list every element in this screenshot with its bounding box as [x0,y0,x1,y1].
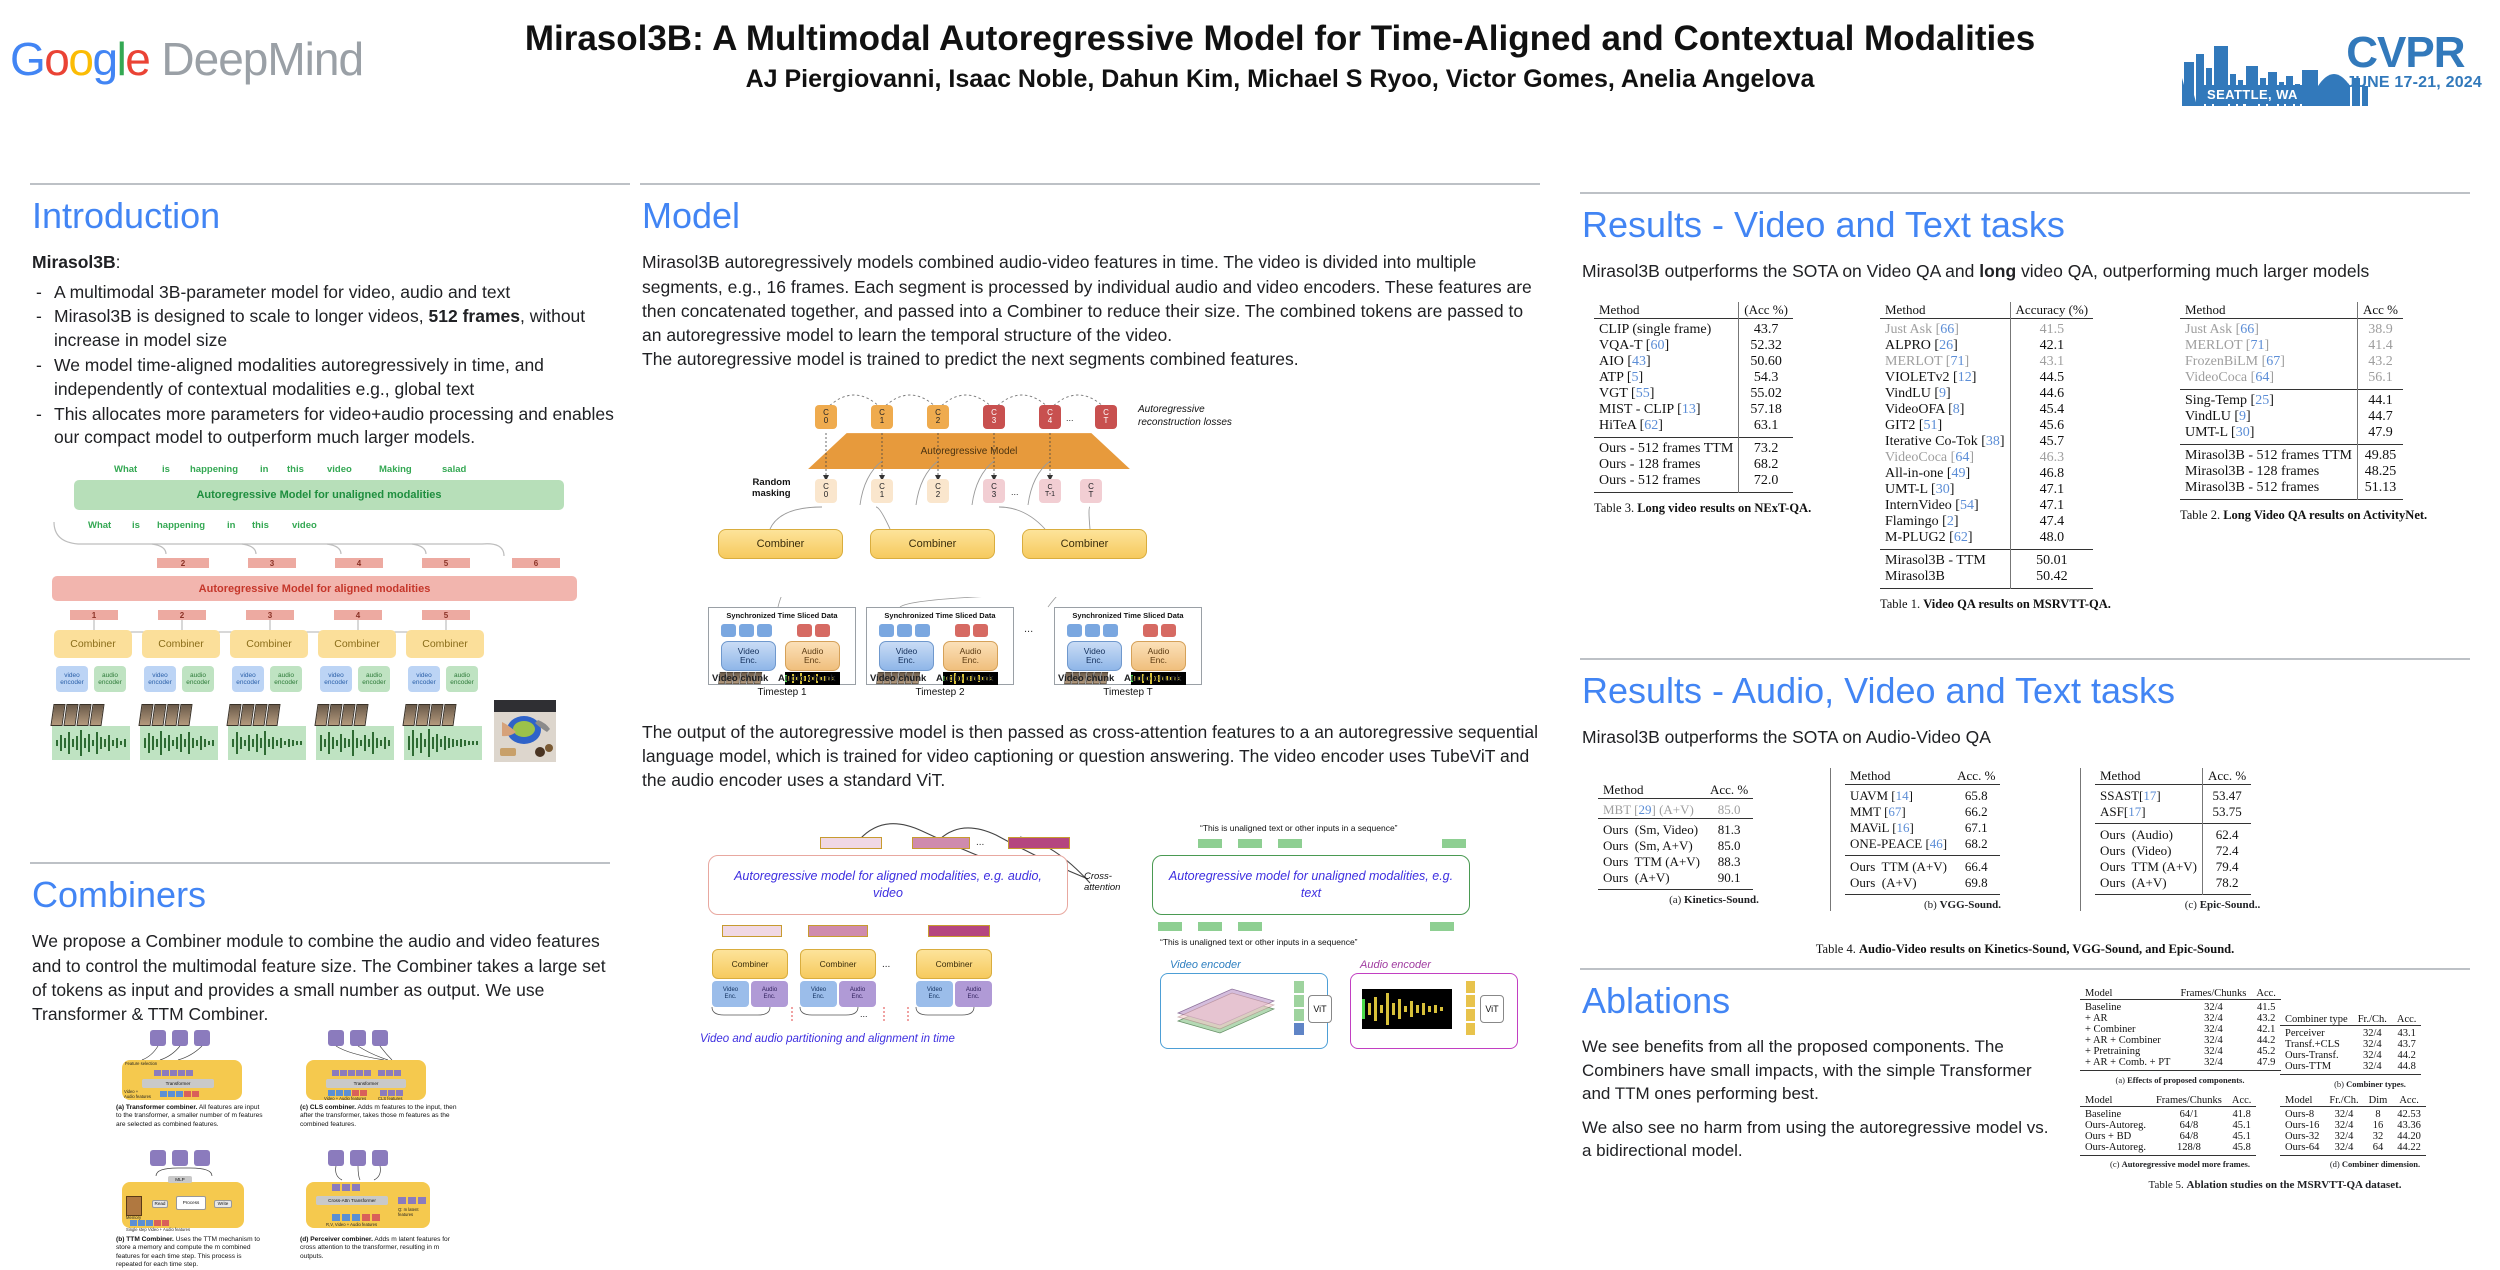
table-row: Ours (Audio)62.4 [2095,824,2251,844]
text-token [1238,922,1262,931]
table-row: ASF[17]53.75 [2095,804,2251,824]
column-header: Model [2280,1095,2324,1107]
table-row: Ours - 512 frames72.0 [1594,473,1793,493]
unaligned-quote-bottom: “This is unaligned text or other inputs … [1160,937,1358,947]
transformer-block: Transformer [326,1079,406,1088]
table-row: MERLOT [71]43.1 [1880,354,2093,370]
table-row: VGT [55]55.02 [1594,386,1793,402]
column-header: Method [1845,768,1952,785]
token [192,1091,199,1097]
table-row: Ours-1632/41643.36 [2280,1120,2426,1131]
token [176,1091,183,1097]
combiner-output-token [928,925,990,937]
results-video-text-subtitle: Mirasol3B outperforms the SOTA on Video … [1582,259,2470,283]
results-avt-title: Results - Audio, Video and Text tasks [1582,670,2470,711]
text-token [1158,922,1182,931]
table-row: All-in-one [49]46.8 [1880,466,2093,482]
combiner-arrows-d [310,1164,440,1182]
text-token [1442,839,1466,848]
token [138,1220,145,1226]
table-5d-caption: (d) Combiner dimension. [2280,1159,2470,1169]
token [418,1197,426,1204]
results-tables-row-1: Method(Acc %) CLIP (single frame)43.7 VQ… [1580,302,2470,612]
table-row: UMT-L [30]47.9 [2180,425,2403,445]
text-token [1198,922,1222,931]
column-header: (Acc %) [1739,302,1793,319]
cvpr-wordmark: CVPR [2346,32,2482,74]
table-row: Mirasol3B - TTM50.01 [1880,550,2093,570]
audio-waveform [316,726,394,760]
video-encoder-block: videoencoder [56,666,88,692]
combiner-block: Combiner [718,529,843,559]
column-header: Acc. % [1705,782,1753,799]
figure-token: video [327,464,352,475]
table-row: Ours (A+V)69.8 [1845,875,2000,895]
combiner-block: Combiner [712,949,788,979]
audio-encoder-block: AudioEnc. [751,981,788,1007]
section-divider [30,862,610,864]
audio-encoder-block: audioencoder [446,666,478,692]
table-row: Ours-6432/46444.22 [2280,1142,2426,1156]
aligned-ar-box: Autoregressive model for aligned modalit… [708,855,1068,915]
table-5b-caption: (b) Combiner types. [2280,1079,2460,1089]
figure-token: salad [442,464,466,475]
process-block: Process [176,1196,206,1210]
token [332,1070,339,1076]
combiner-caption-a: (a) Transformer combiner. All features a… [116,1104,266,1129]
table-row: M-PLUG2 [62]48.0 [1880,530,2093,550]
table-row: VIOLETv2 [12]44.5 [1880,370,2093,386]
sync-data-label: Synchronized Time Sliced Data [1055,611,1201,620]
table-row: Ours (Video)72.4 [2095,843,2251,859]
vit-block: ViT [1308,995,1332,1023]
table-4a-caption: (a) Kinetics-Sound. [1598,894,1830,906]
poster-header: Google DeepMind Mirasol3B: A Multimodal … [0,0,2500,122]
column-header: Fr./Ch. [2353,1014,2392,1026]
audio-spectrogram [1362,989,1452,1029]
table-row: UAVM [14]65.8 [1845,785,2000,805]
table-row: Perceiver32/443.1 [2280,1026,2421,1040]
table-5a: ModelFrames/ChunksAcc. Baseline32/441.5 … [2080,988,2281,1073]
audio-encoder-block: AudioEnc. [785,641,840,671]
table-row: MERLOT [71]41.4 [2180,338,2403,354]
audio-encoder-block: audioencoder [270,666,302,692]
table-row: SSAST[17]53.47 [2095,785,2251,805]
token [168,1091,175,1097]
token [332,1214,340,1221]
token [162,1220,169,1226]
table-row: Ours TTM (A+V)66.4 [1845,856,2000,876]
combiners-figure: Feature selection Transformer Video +Aud… [110,1030,670,1242]
audio-encoder-block: AudioEnc. [955,981,992,1007]
table-row: FrozenBiLM [67]43.2 [2180,354,2403,370]
model-paragraph-3: The output of the autoregressive model i… [642,720,1540,792]
video-audio-features-label: Video + Audio features [324,1097,366,1102]
ablations-paragraph-2: We also see no harm from using the autor… [1582,1116,2052,1163]
list-item: We model time-aligned modalities autoreg… [32,354,630,402]
aligned-token [912,837,970,849]
token [348,1070,355,1076]
table-1-caption: Table 1. Video QA results on MSRVTT-QA. [1880,597,2180,612]
introduction-title: Introduction [32,195,630,236]
section-combiners: Combiners We propose a Combiner module t… [30,862,610,1242]
cls-features-label: CLS features [378,1097,402,1102]
table-row: InternVideo [54]47.1 [1880,498,2093,514]
table-row: Ours-832/4842.53 [2280,1106,2426,1120]
table-3-caption: Table 3. Long video results on NExT-QA. [1594,501,1880,516]
vit-block: ViT [1480,995,1504,1023]
results-avt-subtitle: Mirasol3B outperforms the SOTA on Audio-… [1582,725,2470,749]
table-4b-caption: (b) VGG-Sound. [1845,899,2080,911]
combiner-caption-b: (b) TTM Combiner. Uses the TTM mechanism… [116,1236,268,1270]
table-row: Ours-TTM32/444.8 [2280,1061,2421,1075]
combiner-block: Combiner [406,630,484,658]
token [130,1220,137,1226]
audio-encoder-block: audioencoder [94,666,126,692]
table-row: Ours - 512 frames TTM73.2 [1594,438,1793,458]
token [340,1070,347,1076]
table-4-caption: Table 4. Audio-Video results on Kinetics… [1580,942,2470,957]
memory-block [126,1196,142,1216]
table-row: Mirasol3B - 512 frames TTM49.85 [2180,445,2403,465]
audio-encoder-title: Audio encoder [1360,959,1431,971]
token-skip-curves [660,417,1520,517]
audio-waveform [52,726,130,760]
video-encoder-block: videoencoder [408,666,440,692]
cvpr-city-label: SEATTLE, WA [2202,85,2303,104]
table-row: ATP [5]54.3 [1594,370,1793,386]
table-4c-wrapper: MethodAcc. % SSAST[17]53.47 ASF[17]53.75… [2080,768,2350,911]
column-header: Acc % [2357,302,2403,319]
list-item: This allocates more parameters for video… [32,403,630,451]
column-header: Acc. [2392,1014,2422,1026]
audio-waveform [404,726,482,760]
figure-chip: 2 [157,558,209,568]
table-row: Iterative Co-Tok [38]45.7 [1880,434,2093,450]
kv-features-label: R,V, Video + Audio features [326,1223,377,1228]
combiner-block: Combiner [1022,529,1147,559]
section-ablations: Ablations We see benefits from all the p… [1580,968,2470,1163]
table-5c: ModelFrames/ChunksAcc. Baseline64/141.8 … [2080,1095,2256,1158]
table-row: ONE-PEACE [46]68.2 [1845,836,2000,856]
table-row: GIT2 [51]45.6 [1880,418,2093,434]
table-5a-wrapper: ModelFrames/ChunksAcc. Baseline32/441.5 … [2080,988,2280,1085]
column-header: Frames/Chunks [2151,1095,2227,1107]
figure2-caption: Video and audio partitioning and alignme… [700,1033,955,1045]
text-token [1198,839,1222,848]
token [386,1070,393,1076]
table-row: Ours-Autoreg.64/845.1 [2080,1120,2256,1131]
audio-encoder-block: AudioEnc. [1131,641,1186,671]
token [342,1184,350,1191]
video-encoder-block: VideoEnc. [916,981,953,1007]
token [364,1070,371,1076]
introduction-lead: Mirasol3B: [32,250,630,274]
column-header: Acc. [2392,1095,2426,1107]
video-encoder-block: videoencoder [232,666,264,692]
model-title: Model [642,195,1540,236]
column-header: Acc. [2251,988,2281,1000]
section-results-avt: Results - Audio, Video and Text tasks Mi… [1580,658,2470,750]
table-row: Sing-Temp [25]44.1 [2180,390,2403,410]
token [154,1220,161,1226]
token [184,1091,191,1097]
video-audio-strip-figure [52,704,592,782]
table-2-caption: Table 2. Long Video QA results on Activi… [2180,508,2470,523]
table-3: Method(Acc %) CLIP (single frame)43.7 VQ… [1594,302,1793,495]
google-wordmark: Google [10,32,149,86]
audio-waveform [228,726,306,760]
combiner-block: Combiner [142,630,220,658]
aligned-ar-bar: Autoregressive Model for aligned modalit… [52,576,577,601]
table-row: MIST - CLIP [13]57.18 [1594,402,1793,418]
table-row: VideoCoca [64]56.1 [2180,370,2403,390]
timestep-cards-figure: Synchronized Time Sliced Data VideoEnc. … [660,601,1520,706]
table-3-wrapper: Method(Acc %) CLIP (single frame)43.7 VQ… [1580,302,1880,516]
table-4-row: MethodAcc. % MBT [29] (A+V)85.0 Ours (Sm… [1580,768,2470,911]
combiner-up-curves [660,503,1520,531]
read-block: Read [152,1200,168,1208]
cvpr-logo: SEATTLE, WA CVPR JUNE 17-21, 2024 [2182,22,2482,106]
sync-data-label: Synchronized Time Sliced Data [867,611,1013,620]
ellipsis: ... [860,1009,868,1019]
section-divider [640,183,1540,185]
column-header: Method [2095,768,2203,785]
combiner-caption-d: (d) Perceiver combiner. Adds m latent fe… [300,1236,460,1261]
token [378,1070,385,1076]
sync-data-label: Synchronized Time Sliced Data [709,611,855,620]
table-row: Ours + BD64/845.1 [2080,1131,2256,1142]
section-divider [1580,968,2470,970]
timestep-caption: Timestep T [1054,687,1202,698]
token [178,1070,185,1076]
figure-chip: 6 [512,558,560,568]
timestep-caption: Timestep 2 [866,687,1014,698]
table-row: VindLU [9]44.6 [1880,386,2093,402]
token [394,1070,401,1076]
section-introduction: Introduction Mirasol3B: A multimodal 3B-… [30,183,630,782]
table-row: Just Ask [66]38.9 [2180,319,2403,339]
section-divider [1580,192,2470,194]
audio-encoder-block: audioencoder [182,666,214,692]
combiner-block: Combiner [916,949,992,979]
combiner-block: Combiner [318,630,396,658]
table-5c-wrapper: ModelFrames/ChunksAcc. Baseline64/141.8 … [2080,1095,2280,1170]
video-encoder-block: videoencoder [320,666,352,692]
combiner-block: Combiner [800,949,876,979]
model-paragraph-2: The autoregressive model is trained to p… [642,347,1540,371]
combiner-block: Combiner [870,529,995,559]
table-row: Ours TTM (A+V)79.4 [2095,859,2251,875]
table-row: VideoOFA [8]45.4 [1880,402,2093,418]
combiner-block: Combiner [54,630,132,658]
figure-chip: 3 [246,610,294,620]
audio-chunk-label: Audio chunk [936,673,994,684]
figure-chip: 2 [158,610,206,620]
token [160,1091,167,1097]
table-row: Ours (Sm, Video)81.3 [1598,819,1753,839]
figure-token: happening [190,464,238,475]
cvpr-text: CVPR JUNE 17-21, 2024 [2346,32,2482,92]
table-4a: MethodAcc. % MBT [29] (A+V)85.0 Ours (Sm… [1598,782,1753,892]
table-row: Mirasol3B - 512 frames51.13 [2180,480,2403,500]
audio-encoder-block: AudioEnc. [943,641,998,671]
table-row: UMT-L [30]47.1 [1880,482,2093,498]
figure-chip: 3 [248,558,296,568]
cross-attn-transformer-block: Cross-Attn Transformer [316,1196,388,1205]
unaligned-quote-top: “This is unaligned text or other inputs … [1200,823,1398,833]
table-row: CLIP (single frame)43.7 [1594,319,1793,339]
video-encoder-block: VideoEnc. [721,641,776,671]
column-header: Method [1594,302,1739,319]
feature-selection-label: Feature selection [125,1062,157,1067]
table-5c-caption: (c) Autoregressive model more frames. [2080,1159,2280,1169]
video-chunk-label: Video chunk [712,673,768,684]
token [146,1220,153,1226]
table-row: VindLU [9]44.7 [2180,409,2403,425]
figure-chip: 5 [422,610,470,620]
table-row: Just Ask [66]41.5 [1880,319,2093,339]
table-row: Ours (A+V)90.1 [1598,870,1753,890]
table-row: Mirasol3B - 128 frames48.25 [2180,464,2403,480]
combiner-output-token [808,925,868,937]
table-5-block: ModelFrames/ChunksAcc. Baseline32/441.5 … [2080,988,2470,1191]
video-audio-features-label: Video +Audio features [124,1090,151,1099]
video-chunk-label: Video chunk [1058,673,1114,684]
column-header: Model [2080,1095,2151,1107]
token [186,1070,193,1076]
table-row: Ours (A+V)78.2 [2095,875,2251,895]
audio-chunk-label: Audio chunk [778,673,836,684]
google-deepmind-logo: Google DeepMind [10,32,363,86]
combiner-block: Combiner [230,630,308,658]
model-cross-attention-figure: ... Autoregressive model for aligned mod… [660,797,1520,1007]
transformer-block: Transformer [142,1079,214,1088]
table-5b-wrapper: Combiner typeFr./Ch.Acc. Perceiver32/443… [2280,988,2460,1089]
table-row: Ours - 128 frames68.2 [1594,457,1793,473]
column-header: Method [1598,782,1705,799]
token [356,1070,363,1076]
table-row: + AR + Combiner32/444.2 [2080,1035,2281,1046]
ellipsis: ... [882,959,890,970]
table-row: Ours-Autoreg.128/845.8 [2080,1142,2256,1156]
text-token [1278,839,1302,848]
salad-thumbnail-image [494,700,556,762]
table-row: MAViL [16]67.1 [1845,820,2000,836]
audio-encoder-block: audioencoder [358,666,390,692]
table-5b: Combiner typeFr./Ch.Acc. Perceiver32/443… [2280,1014,2421,1077]
write-block: Write [214,1200,232,1208]
aligned-token [820,837,882,849]
table-row: MMT [67]66.2 [1845,804,2000,820]
table-row: Baseline32/441.5 [2080,1000,2281,1014]
table-row: Flamingo [2]47.4 [1880,514,2093,530]
section-model: Model Mirasol3B autoregressively models … [640,183,1540,1007]
table-5d-wrapper: ModelFr./Ch.DimAcc. Ours-832/4842.53 Our… [2280,1095,2470,1170]
token [398,1197,406,1204]
audio-waveform [140,726,218,760]
table-1: MethodAccuracy (%) Just Ask [66]41.5 ALP… [1880,302,2093,591]
table-4a-wrapper: MethodAcc. % MBT [29] (A+V)85.0 Ours (Sm… [1580,768,1830,906]
table-row: HiTeA [62]63.1 [1594,418,1793,438]
video-encoder-block: videoencoder [144,666,176,692]
brace-lines [700,1007,1060,1025]
table-row: + AR + Comb. + PT32/447.9 [2080,1057,2281,1071]
figure-token: Making [379,464,412,475]
list-item: A multimodal 3B-parameter model for vide… [32,281,630,305]
table-row: + Combiner32/442.1 [2080,1024,2281,1035]
audio-encoder-block: AudioEnc. [839,981,876,1007]
introduction-bullets: A multimodal 3B-parameter model for vide… [32,281,630,451]
table-row: ALPRO [26]42.1 [1880,338,2093,354]
figure-connector-lines [52,510,592,558]
ellipsis: ... [976,837,984,848]
combiner-caption-c: (c) CLS combiner. Adds m features to the… [300,1104,460,1129]
text-token [1238,839,1262,848]
table-4c: MethodAcc. % SSAST[17]53.47 ASF[17]53.75… [2095,768,2251,897]
token [352,1214,360,1221]
video-encoder-title: Video encoder [1170,959,1241,971]
figure-chip: 4 [334,610,382,620]
table-row: Transf.+CLS32/443.7 [2280,1039,2421,1050]
table-row: VideoCoca [64]46.3 [1880,450,2093,466]
column-header: Fr./Ch. [2324,1095,2363,1107]
page-title: Mirasol3B: A Multimodal Autoregressive M… [400,18,2160,59]
single-step-features-label: Single step Video + Audio features [126,1228,190,1233]
table-5-caption: Table 5. Ablation studies on the MSRVTT-… [2080,1179,2470,1191]
table-row: Baseline64/141.8 [2080,1106,2256,1120]
column-header: Model [2080,988,2175,1000]
combiners-paragraph: We propose a Combiner module to combine … [32,929,610,1026]
video-encoder-block: VideoEnc. [1067,641,1122,671]
deepmind-wordmark: DeepMind [161,32,363,86]
video-encoder-block: VideoEnc. [879,641,934,671]
table-row: + AR32/443.2 [2080,1013,2281,1024]
token [342,1214,350,1221]
mlp-block: MLP [168,1176,192,1183]
introduction-figure: What is happening in this video Making s… [52,458,592,708]
figure-chip: 4 [335,558,383,568]
audio-chunk-label: Audio chunk [1124,673,1182,684]
ellipsis: ... [1024,623,1033,635]
figure-token: this [287,464,304,475]
unaligned-ar-bar: Autoregressive Model for unaligned modal… [74,480,564,510]
column-header: Method [2180,302,2357,319]
video-encoder-block: VideoEnc. [800,981,837,1007]
column-header: Frames/Chunks [2175,988,2251,1000]
figure-chip: 1 [70,610,118,620]
table-row: VQA-T [60]52.32 [1594,338,1793,354]
figure-token: in [260,464,268,475]
column-header: Acc. % [2203,768,2252,785]
table-2: MethodAcc % Just Ask [66]38.9 MERLOT [71… [2180,302,2403,502]
column-header: Acc. [2227,1095,2257,1107]
column-header: Method [1880,302,2010,319]
token [352,1184,360,1191]
table-row: MBT [29] (A+V)85.0 [1598,799,1753,819]
latent-features-label: Q: m latentfeatures [398,1208,418,1217]
token [162,1070,169,1076]
title-block: Mirasol3B: A Multimodal Autoregressive M… [400,18,2160,96]
model-paragraph-1: Mirasol3B autoregressively models combin… [642,250,1540,347]
model-architecture-figure: C0 C1 C2 C3 C4 ... CT Autoregressivereco… [660,377,1520,597]
video-chunk-label: Video chunk [870,673,926,684]
results-video-text-title: Results - Video and Text tasks [1582,204,2470,245]
figure-token: What [114,464,137,475]
token [170,1070,177,1076]
table-1-wrapper: MethodAccuracy (%) Just Ask [66]41.5 ALP… [1880,302,2180,612]
figure-chip: 5 [422,558,470,568]
